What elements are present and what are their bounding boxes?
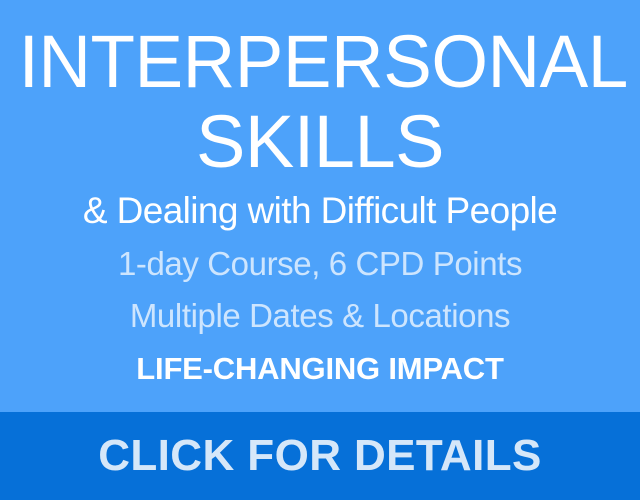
headline-line-2: SKILLS (14, 102, 626, 182)
impact-statement: LIFE-CHANGING IMPACT (10, 350, 630, 388)
detail-dates-locations: Multiple Dates & Locations (10, 293, 630, 339)
detail-course-info: 1-day Course, 6 CPD Points (10, 241, 630, 287)
subheadline: & Dealing with Difficult People (10, 188, 630, 234)
cta-button-label: CLICK FOR DETAILS (98, 432, 542, 480)
advertisement-banner[interactable]: INTERPERSONAL SKILLS & Dealing with Diff… (0, 0, 640, 500)
headline: INTERPERSONAL SKILLS (14, 22, 626, 182)
ad-content-area: INTERPERSONAL SKILLS & Dealing with Diff… (0, 0, 640, 412)
cta-button[interactable]: CLICK FOR DETAILS (0, 412, 640, 500)
headline-line-1: INTERPERSONAL (19, 22, 622, 102)
